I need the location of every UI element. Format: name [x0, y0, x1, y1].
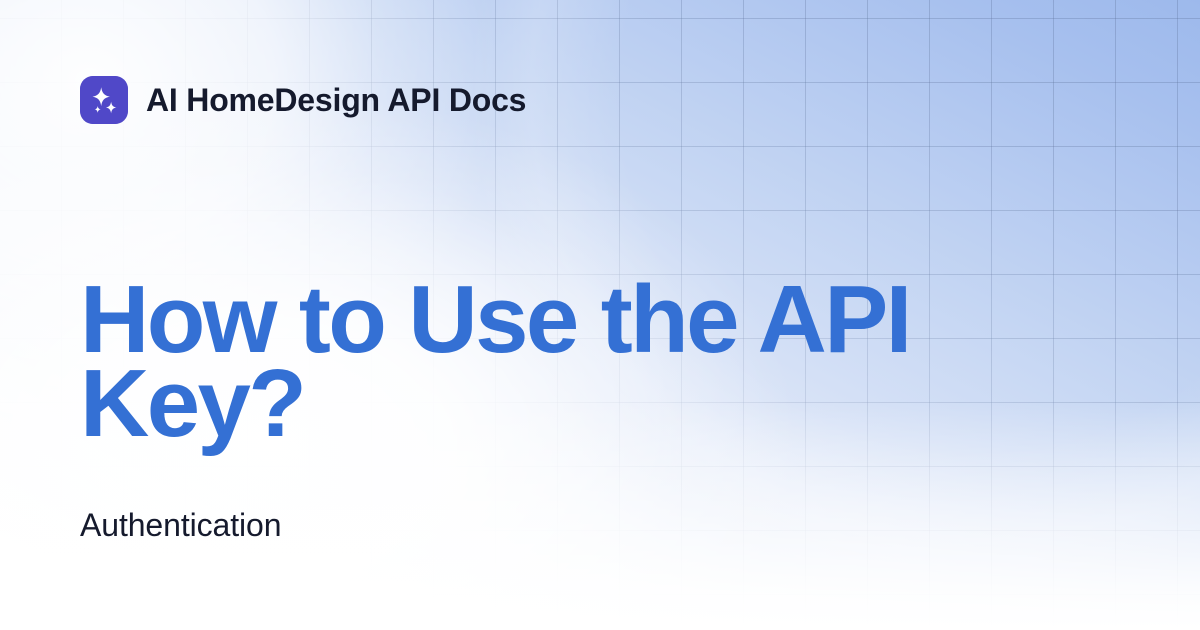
brand-lockup: AI HomeDesign API Docs — [80, 76, 526, 124]
sparkle-icon — [80, 76, 128, 124]
brand-name: AI HomeDesign API Docs — [146, 84, 526, 116]
og-card: AI HomeDesign API Docs How to Use the AP… — [0, 0, 1200, 630]
page-title: How to Use the API Key? — [80, 278, 1060, 446]
card-content: AI HomeDesign API Docs How to Use the AP… — [0, 0, 1200, 630]
page-subtitle: Authentication — [80, 505, 281, 547]
